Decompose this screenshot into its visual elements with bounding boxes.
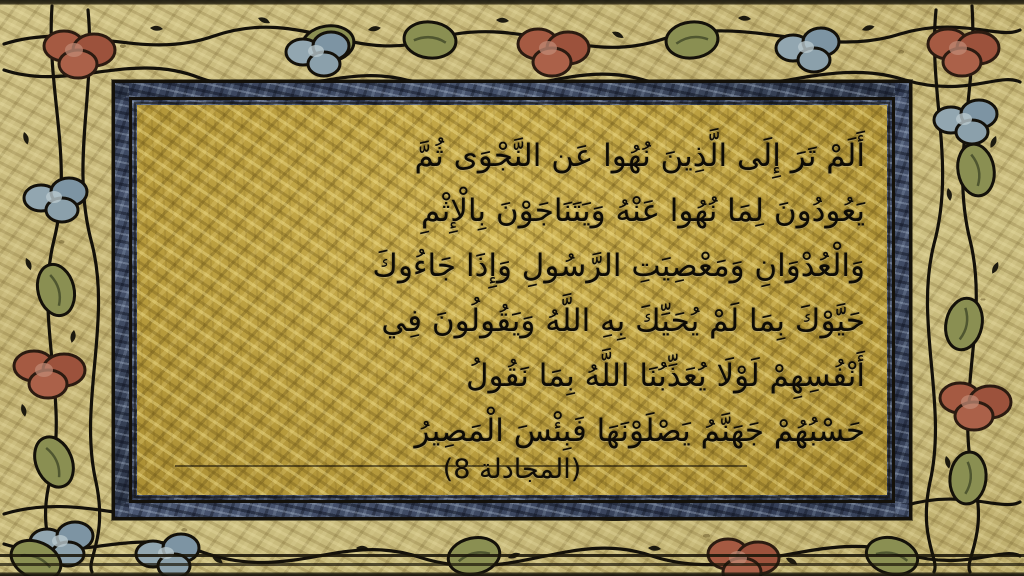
ornament-red-flower — [708, 539, 779, 576]
ornament-blue-flower — [934, 100, 997, 144]
plate-top-edge-rule — [0, 0, 1024, 5]
ornament-green-leaf — [954, 141, 998, 198]
ornament-green-leaf — [941, 295, 987, 353]
verse-reference: (المجادلة 8) — [137, 454, 887, 485]
plate-bottom-rule-lower — [0, 563, 1024, 566]
ornament-green-leaf — [664, 19, 719, 60]
manuscript-page: أَلَمْ تَرَ إِلَى الَّذِينَ نُهُوا عَن ا… — [0, 0, 1024, 576]
ornament-green-leaf — [947, 450, 988, 505]
ornament-green-leaf — [32, 260, 80, 319]
verse-line-3: وَالْعُدْوَانِ وَمَعْصِيَتِ الرَّسُولِ و… — [161, 239, 865, 294]
verse-text-panel: أَلَمْ تَرَ إِلَى الَّذِينَ نُهُوا عَن ا… — [137, 105, 887, 495]
plate-bottom-rule-upper — [0, 554, 1024, 557]
ornament-blue-flower — [286, 32, 349, 76]
ornament-blue-flower — [24, 178, 87, 222]
ornament-red-flower — [940, 383, 1011, 430]
verse-line-2: يَعُودُونَ لِمَا نُهُوا عَنْهُ وَيَتَنَا… — [161, 184, 865, 239]
verse-line-1: أَلَمْ تَرَ إِلَى الَّذِينَ نُهُوا عَن ا… — [161, 129, 865, 184]
ornament-green-leaf — [402, 19, 457, 60]
verse-line-6: حَسْبُهُمْ جَهَنَّمُ يَصْلَوْنَهَا فَبِئ… — [161, 404, 865, 459]
verse-text-block: أَلَمْ تَرَ إِلَى الَّذِينَ نُهُوا عَن ا… — [161, 129, 865, 459]
verse-line-5: أَنْفُسِهِمْ لَوْلَا يُعَذِّبُنَا اللَّه… — [161, 349, 865, 404]
ornament-red-flower — [14, 351, 85, 398]
verse-line-4: حَيَّوْكَ بِمَا لَمْ يُحَيِّكَ بِهِ اللَ… — [161, 294, 865, 349]
ornament-green-leaf — [28, 431, 81, 493]
ornament-red-flower — [518, 29, 589, 76]
text-frame: أَلَمْ تَرَ إِلَى الَّذِينَ نُهُوا عَن ا… — [112, 80, 912, 520]
ornament-red-flower — [928, 29, 999, 76]
plate-bottom-edge-rule — [0, 572, 1024, 576]
ornament-blue-flower — [776, 28, 839, 72]
